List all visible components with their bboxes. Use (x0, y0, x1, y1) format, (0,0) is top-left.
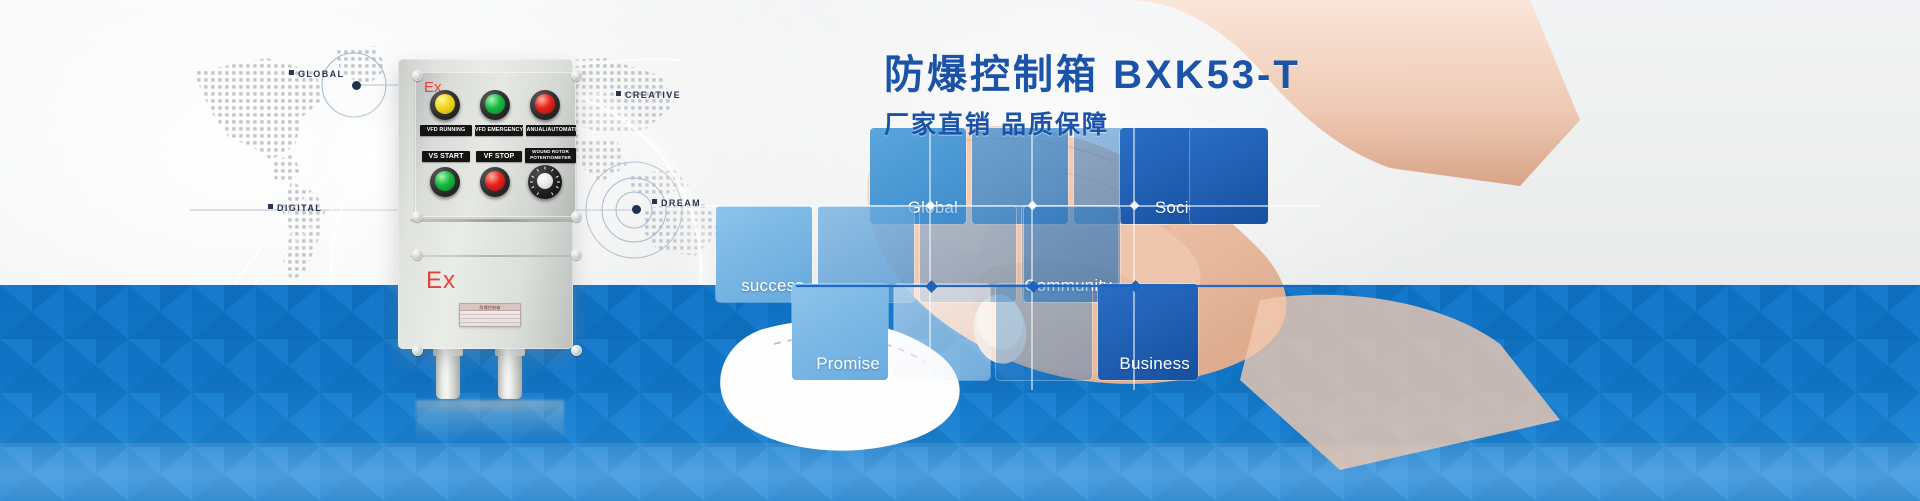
screw (571, 211, 582, 222)
label-wound-rotor-potentiometer: WOUND ROTOR POTENTIOMETER (525, 148, 576, 163)
cable-gland-right (498, 347, 522, 399)
map-tag-creative: CREATIVE (616, 90, 681, 100)
product-reflection (416, 400, 564, 442)
screw (412, 345, 423, 356)
label-vfd-emergency: VFD EMERGENCY (475, 125, 523, 136)
product-control-box: Ex Ex VFD RUNNING VFD EMERGENCY MANUAL/A… (388, 52, 588, 392)
map-tag-label: GLOBAL (298, 69, 344, 79)
vs-start-button[interactable] (430, 167, 460, 197)
screw (571, 345, 582, 356)
screw (571, 70, 582, 81)
map-tag-global: GLOBAL (289, 69, 344, 79)
map-node-right (632, 205, 641, 214)
label-vfd-running: VFD RUNNING (420, 125, 472, 136)
panel-seam-upper (410, 219, 581, 222)
screw (412, 70, 423, 81)
map-tag-label: DREAM (661, 198, 701, 208)
banner-title: 防爆控制箱 BXK53-T (884, 52, 1584, 98)
knob-tick-marks (528, 165, 562, 199)
square-marker (289, 70, 294, 75)
map-tag-label: DIGITAL (277, 203, 322, 213)
map-node-left (352, 81, 361, 90)
nameplate-row (460, 319, 520, 323)
square-marker (652, 199, 657, 204)
square-marker (268, 204, 273, 209)
banner-subtitle: 厂家直销 品质保障 (884, 105, 1584, 141)
vfd-emergency-button[interactable] (480, 90, 510, 120)
screw (412, 249, 423, 260)
label-vs-start: VS START (422, 151, 470, 162)
screw (412, 211, 423, 222)
label-vf-stop: VF STOP (476, 151, 522, 162)
ex-mark-body: Ex (426, 267, 456, 295)
knob-label-line2: POTENTIOMETER (530, 156, 571, 161)
panel-seam-lower (410, 255, 581, 257)
manual-auto-button[interactable] (530, 90, 560, 120)
product-nameplate: 防爆控制箱 (459, 303, 521, 327)
vf-stop-button[interactable] (480, 167, 510, 197)
cable-gland-left (436, 347, 460, 399)
screw (571, 249, 582, 260)
map-tag-dream: DREAM (652, 198, 701, 208)
map-tag-label: CREATIVE (625, 90, 681, 100)
enclosure-body: Ex Ex VFD RUNNING VFD EMERGENCY MANUAL/A… (398, 59, 573, 349)
square-marker (616, 91, 621, 96)
nameplate-title: 防爆控制箱 (460, 304, 520, 311)
promo-banner: GLOBAL DIGITAL CREATIVE DREAM (0, 0, 1920, 501)
label-manual-auto: MANUAL/AUTOMATIC (526, 125, 576, 136)
vfd-running-button[interactable] (430, 90, 460, 120)
map-tag-digital: DIGITAL (268, 203, 322, 213)
headline-block: 防爆控制箱 BXK53-T 厂家直销 品质保障 (884, 52, 1584, 141)
tile-grid-lines (700, 120, 1320, 390)
